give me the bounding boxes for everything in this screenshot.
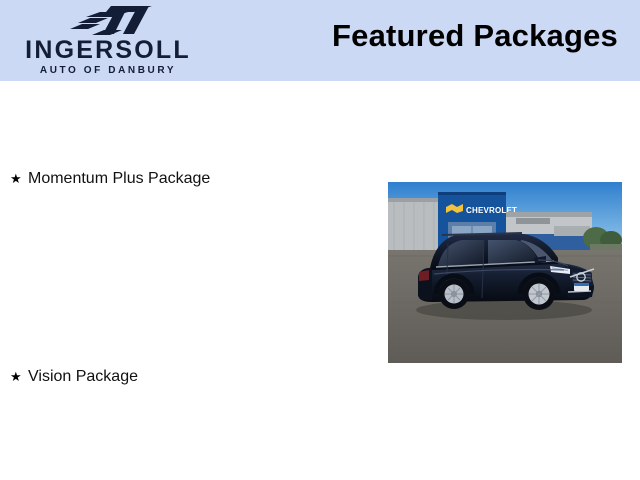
star-bullet-icon: ★ — [10, 370, 28, 383]
header-band: INGERSOLL AUTO OF DANBURY Featured Packa… — [0, 0, 640, 81]
list-item: ★ Vision Package — [10, 367, 138, 386]
page-title: Featured Packages — [332, 19, 618, 53]
star-bullet-icon: ★ — [10, 172, 28, 185]
ingersoll-winged-emblem-icon — [56, 4, 162, 36]
logo-subline: AUTO OF DANBURY — [8, 66, 208, 76]
package-name-momentum-plus: Momentum Plus Package — [28, 169, 210, 188]
list-item: ★ Momentum Plus Package — [10, 169, 210, 188]
dealer-logo: INGERSOLL AUTO OF DANBURY — [8, 2, 208, 80]
vehicle-photo: CHEVROLET — [388, 182, 622, 363]
package-name-vision: Vision Package — [28, 367, 138, 386]
slide-body: ★ Momentum Plus Package ★ Vision Package — [0, 81, 640, 480]
logo-wordmark: INGERSOLL — [8, 38, 208, 63]
